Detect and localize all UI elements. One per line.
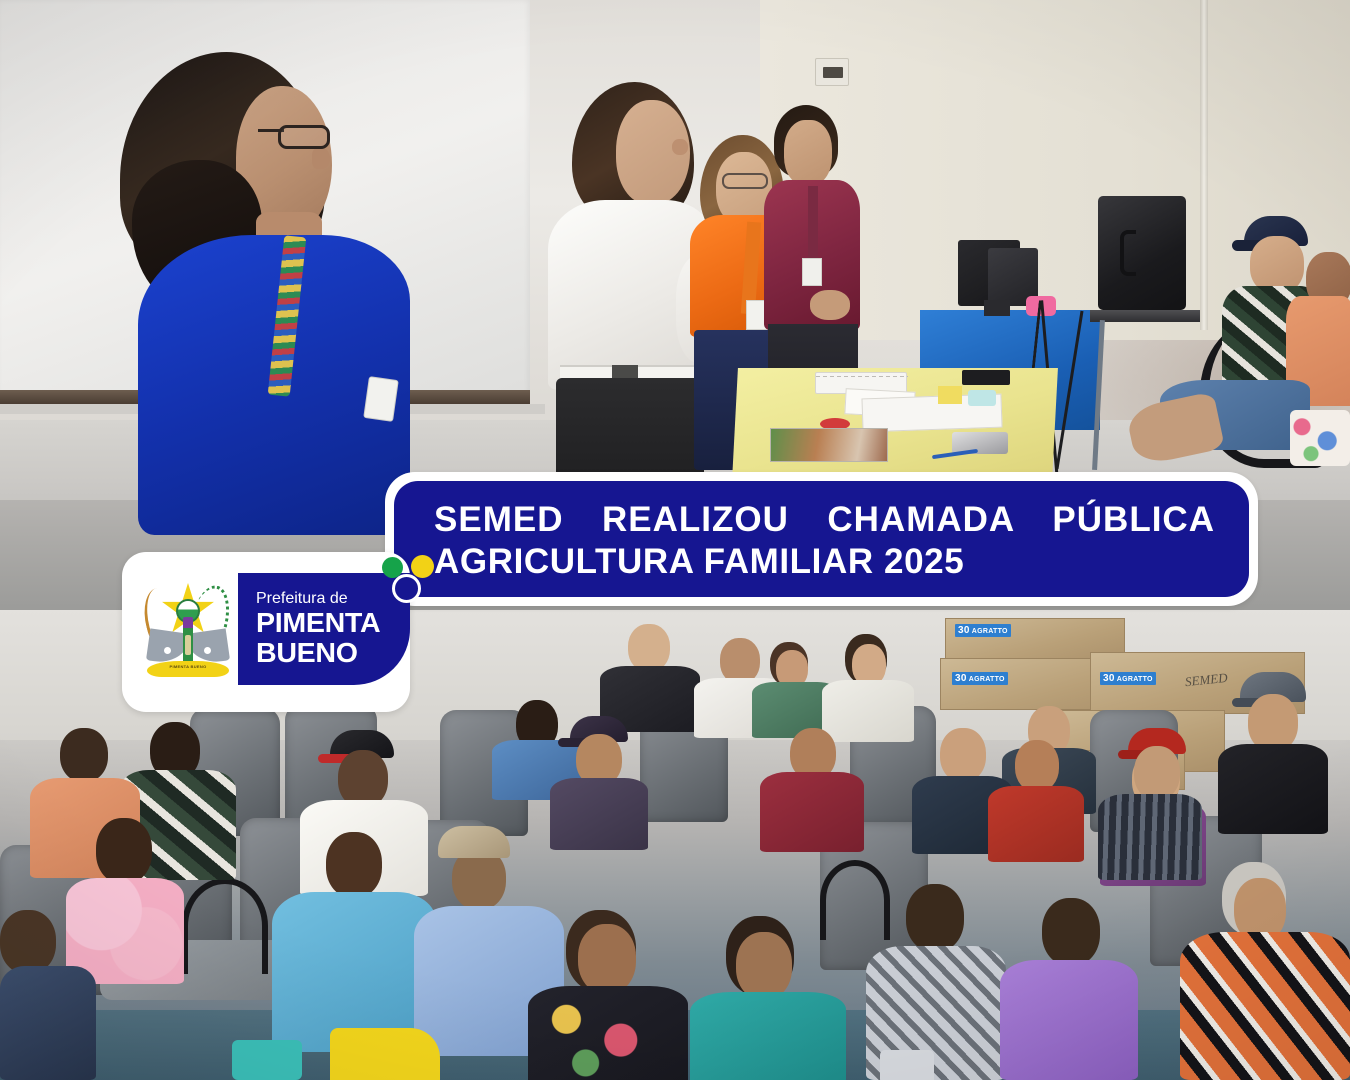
- box-label: 30 AGRATTO: [952, 672, 1008, 685]
- floral-fabric: [1290, 410, 1350, 466]
- title-line-1: SEMED REALIZOU CHAMADA PÚBLICA: [434, 501, 1215, 538]
- title-line-2: AGRICULTURA FAMILIAR 2025: [434, 543, 1215, 580]
- dot-blue-icon: [392, 574, 421, 603]
- logo-inner: PIMENTA BUENO Prefeitura de PIMENTA BUEN…: [122, 573, 410, 685]
- id-badge: [363, 376, 399, 422]
- box-brand: AGRATTO: [972, 628, 1008, 635]
- person-woman-blue-nose: [312, 147, 330, 169]
- dot-yellow-icon: [411, 555, 434, 578]
- box-brand: AGRATTO: [969, 676, 1005, 683]
- person-body: [0, 966, 96, 1080]
- person-head: [60, 728, 108, 782]
- box-number: 30: [1103, 673, 1115, 684]
- person-head: [1042, 898, 1100, 966]
- person-body: [822, 680, 914, 742]
- person-head: [326, 832, 382, 898]
- cap-beige: [438, 826, 510, 858]
- person-body-teal: [690, 992, 846, 1080]
- yellow-plastic-bag: [330, 1028, 440, 1080]
- magazine: [770, 428, 888, 462]
- crest-dot: [164, 647, 171, 654]
- person-head: [1134, 746, 1180, 800]
- child-head: [96, 818, 152, 884]
- speaker-shelf: [1090, 310, 1200, 322]
- title-banner: SEMED REALIZOU CHAMADA PÚBLICA AGRICULTU…: [394, 481, 1249, 597]
- logo-blue-plate: Prefeitura de PIMENTA BUENO: [238, 573, 410, 685]
- logo-city-name: PIMENTA BUENO: [256, 608, 413, 667]
- seat-armrest: [182, 878, 268, 974]
- cyan-item: [968, 390, 996, 406]
- box-label: 30 AGRATTO: [955, 624, 1011, 637]
- decorative-dots: [380, 555, 444, 611]
- wall-seam: [1200, 0, 1208, 330]
- person-body: [550, 778, 648, 850]
- person-body-striped: [1098, 794, 1202, 880]
- speaker-handle-icon: [1120, 230, 1136, 276]
- id-badge: [802, 258, 822, 286]
- seat-armrest: [820, 860, 890, 940]
- person-body-lavender: [1000, 960, 1138, 1080]
- loudspeaker: [1098, 196, 1186, 310]
- mobile-phone: [880, 1050, 934, 1080]
- sticky-note: [938, 386, 962, 404]
- person-face: [736, 932, 792, 1000]
- glasses-icon: [278, 125, 330, 149]
- title-banner-card: SEMED REALIZOU CHAMADA PÚBLICA AGRICULTU…: [385, 472, 1258, 606]
- prefecture-logo-card: PIMENTA BUENO Prefeitura de PIMENTA BUEN…: [122, 552, 410, 712]
- person-head: [628, 624, 670, 672]
- person-head: [940, 728, 986, 782]
- wall-outlet-icon: [815, 58, 849, 86]
- person-woman-white-nose: [672, 139, 688, 155]
- calculator: [962, 370, 1010, 385]
- person-body-floral: [528, 986, 688, 1080]
- person-head: [906, 884, 964, 952]
- poster-root: 30 AGRATTO 30 AGRATTO 30 AGRATTO SEMED 3…: [0, 0, 1350, 1080]
- box-number: 30: [958, 625, 970, 636]
- box-number: 30: [955, 673, 967, 684]
- glasses-icon: [722, 173, 768, 189]
- crest-spear-icon: [183, 617, 193, 667]
- person-body-orange-pattern: [1180, 932, 1350, 1080]
- person-body-maroon: [760, 772, 864, 852]
- crest-ribbon-text: PIMENTA BUENO: [147, 664, 229, 669]
- person-man-maroon-hands: [810, 290, 850, 320]
- box-label: 30 AGRATTO: [1100, 672, 1156, 685]
- person-head: [0, 910, 56, 974]
- crest-ribbon: PIMENTA BUENO: [147, 661, 229, 677]
- monitor-stand: [984, 300, 1010, 316]
- belt-buckle: [612, 365, 638, 379]
- mobile-phone: [232, 1040, 302, 1080]
- person-body-black-polo: [1218, 744, 1328, 834]
- crest-dot: [204, 647, 211, 654]
- person-head: [1015, 740, 1059, 792]
- person-face: [578, 924, 636, 994]
- coat-of-arms-icon: PIMENTA BUENO: [144, 577, 230, 681]
- person-body-red: [988, 786, 1084, 862]
- box-brand: AGRATTO: [1117, 676, 1153, 683]
- person-man-maroon-face: [784, 120, 832, 186]
